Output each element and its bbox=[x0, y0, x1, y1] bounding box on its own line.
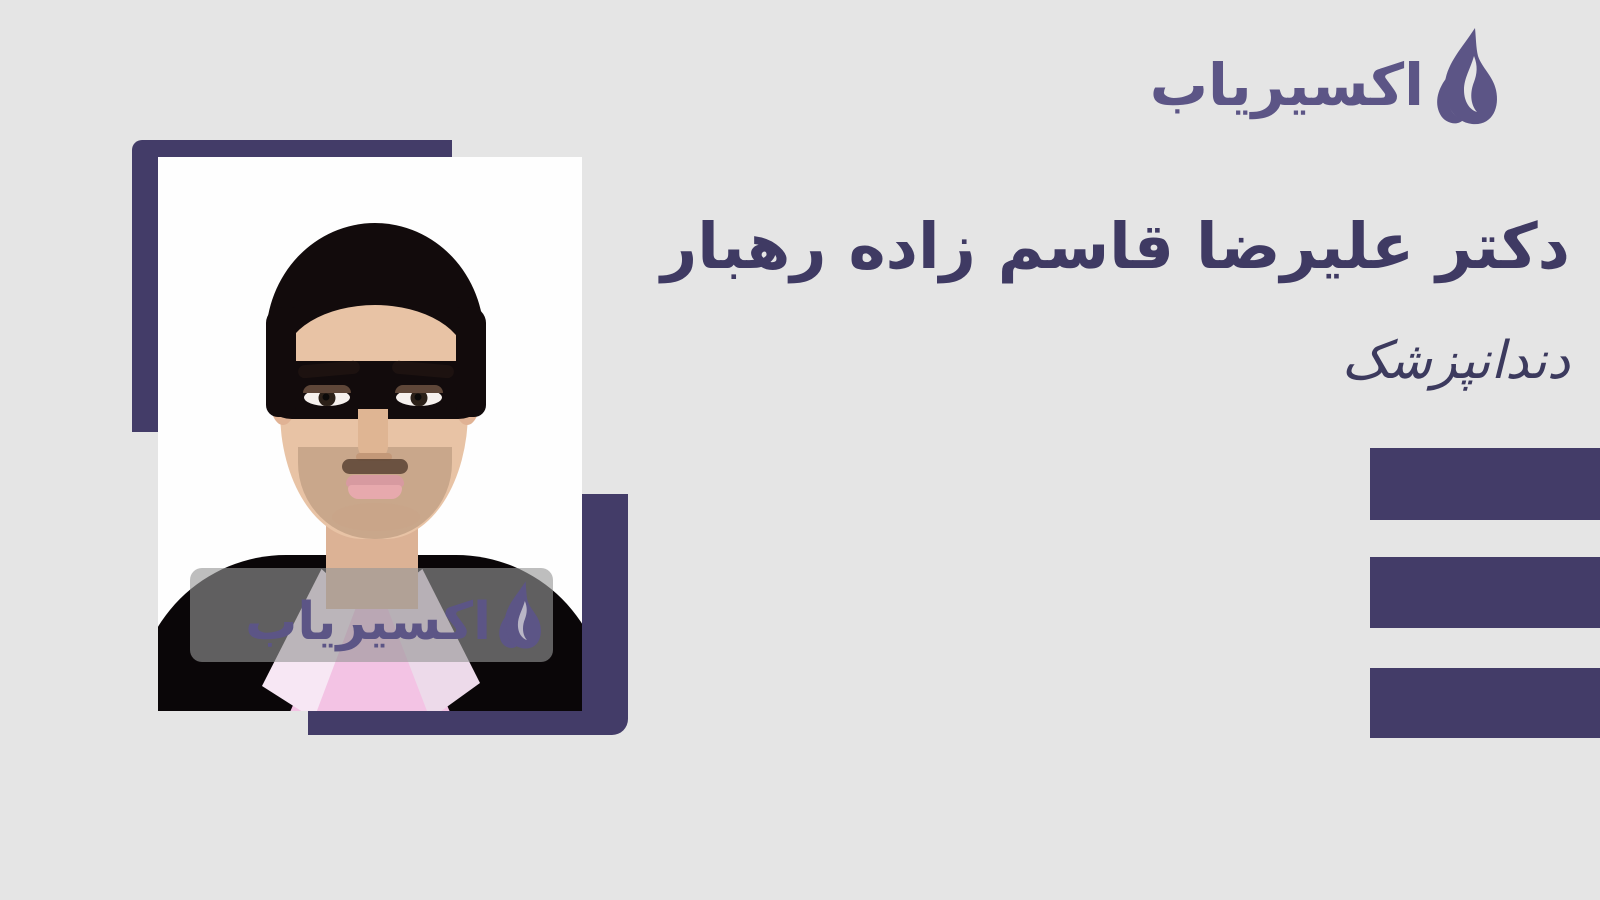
flame-icon bbox=[497, 580, 543, 650]
flame-icon bbox=[1434, 26, 1500, 126]
doctor-photo[interactable]: اکسیریاب bbox=[158, 157, 582, 711]
portrait-lower-lip bbox=[348, 485, 402, 499]
brand-logo[interactable]: اکسیریاب bbox=[1150, 26, 1500, 126]
accent-bar bbox=[1370, 557, 1600, 628]
portrait-eyelid-right bbox=[395, 385, 443, 393]
portrait-mustache bbox=[342, 459, 408, 474]
accent-bar bbox=[1370, 448, 1600, 520]
watermark-wordmark: اکسیریاب bbox=[245, 596, 491, 648]
brand-wordmark: اکسیریاب bbox=[1150, 56, 1424, 114]
portrait-eyelid-left bbox=[303, 385, 351, 393]
portrait-chin bbox=[332, 503, 420, 531]
accent-bar bbox=[1370, 668, 1600, 738]
portrait-sideburn-left bbox=[266, 307, 296, 417]
photo-composition: اکسیریاب bbox=[0, 0, 700, 800]
watermark-badge: اکسیریاب bbox=[190, 568, 553, 662]
portrait-sideburn-right bbox=[456, 307, 486, 417]
profile-banner: اکسیریاب دکتر علیرضا قاسم زاده رهبار دند… bbox=[0, 0, 1600, 900]
